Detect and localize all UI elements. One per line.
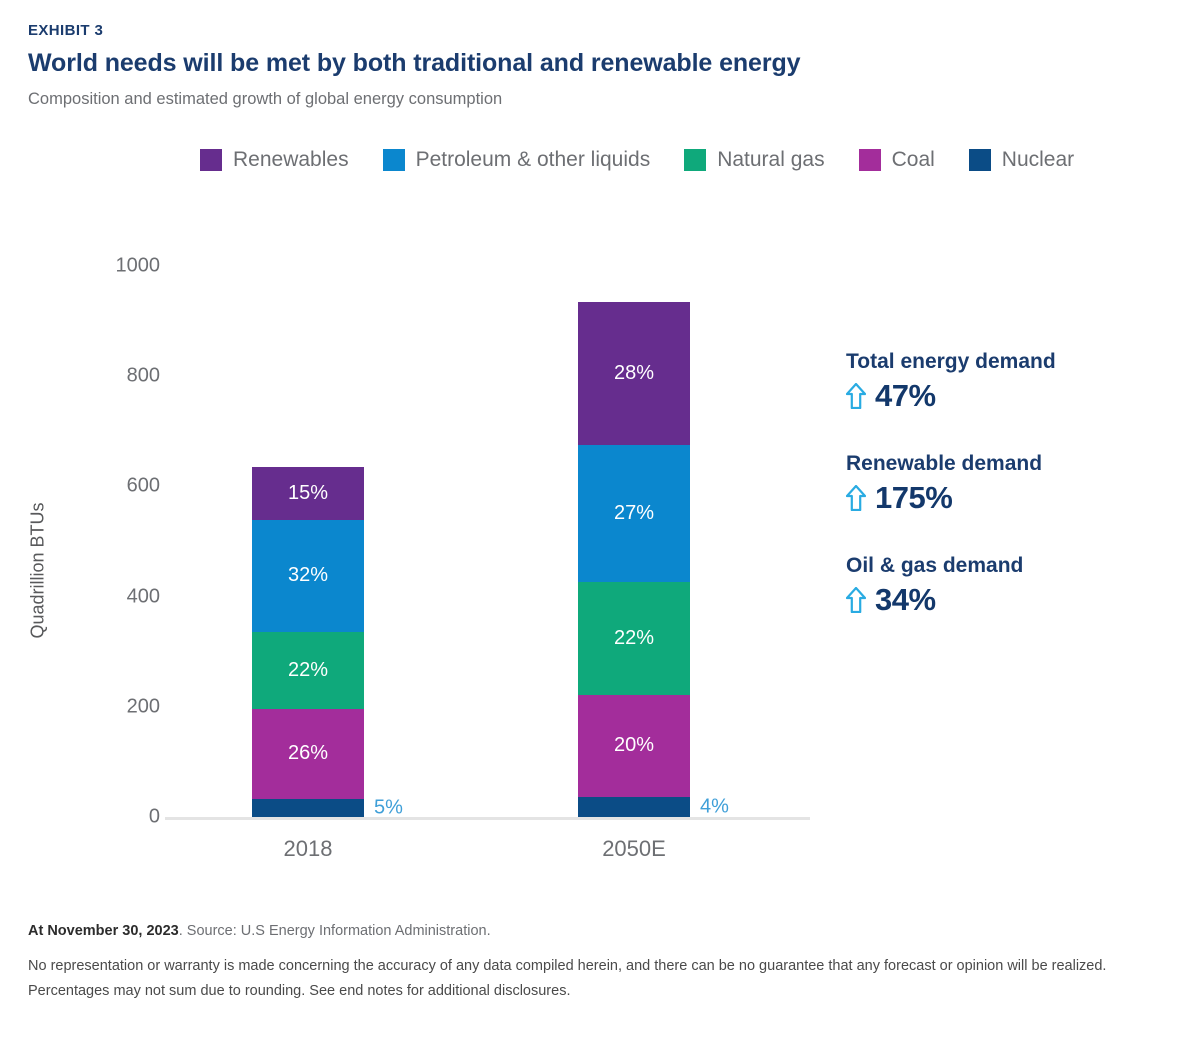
y-axis-tick-label: 1000: [40, 255, 160, 278]
bar-segment-natural-gas[interactable]: 22%: [252, 632, 364, 709]
bar-segment-coal[interactable]: 26%: [252, 709, 364, 800]
callout-value-row: 47%: [846, 378, 1176, 414]
callout-oil-gas-demand: Oil & gas demand34%: [846, 554, 1176, 618]
bar-segment-petroleum-other-liquids[interactable]: 32%: [252, 520, 364, 632]
y-axis-ticks: 10008006004002000: [20, 0, 160, 1042]
callout-group: Total energy demand47%Renewable demand17…: [846, 350, 1176, 618]
callout-title: Renewable demand: [846, 452, 1176, 476]
y-axis-tick-label: 200: [40, 695, 160, 718]
y-axis-tick-label: 800: [40, 365, 160, 388]
bar-segment-nuclear[interactable]: 5%: [252, 799, 364, 816]
bar-segment-label: 26%: [288, 742, 328, 765]
arrow-up-icon: [846, 485, 866, 511]
bar-segment-petroleum-other-liquids[interactable]: 27%: [578, 445, 690, 583]
bar-segment-label: 15%: [288, 482, 328, 505]
arrow-up-icon: [846, 587, 866, 613]
arrow-up-icon: [846, 383, 866, 409]
y-axis-tick-label: 0: [40, 806, 160, 829]
bar-segment-label: 20%: [614, 734, 654, 757]
footnotes: At November 30, 2023. Source: U.S Energy…: [28, 922, 1168, 1003]
bar-segment-renewables[interactable]: 28%: [578, 302, 690, 445]
callout-value: 47%: [875, 378, 936, 414]
bar-segment-nuclear[interactable]: 4%: [578, 797, 690, 817]
stacked-bar-2050e[interactable]: 28%27%22%20%4%: [578, 302, 690, 817]
footnote-disclaimer: No representation or warranty is made co…: [28, 954, 1168, 1004]
callout-value-row: 175%: [846, 480, 1176, 516]
bar-segment-label: 4%: [700, 795, 729, 818]
stacked-bar-2018[interactable]: 15%32%22%26%5%: [252, 467, 364, 817]
bar-segment-label: 22%: [288, 659, 328, 682]
footnote-source-date: At November 30, 2023: [28, 923, 179, 939]
bar-segment-label: 32%: [288, 564, 328, 587]
bar-segment-coal[interactable]: 20%: [578, 695, 690, 797]
footnote-source-text: . Source: U.S Energy Information Adminis…: [179, 923, 491, 939]
callout-value-row: 34%: [846, 582, 1176, 618]
bar-segment-label: 22%: [614, 627, 654, 650]
callout-renewable-demand: Renewable demand175%: [846, 452, 1176, 516]
x-axis-label-2050e: 2050E: [534, 836, 734, 862]
callout-value: 175%: [875, 480, 952, 516]
bar-segment-label: 27%: [614, 502, 654, 525]
y-axis-tick-label: 600: [40, 475, 160, 498]
callout-title: Oil & gas demand: [846, 554, 1176, 578]
bar-segment-label: 5%: [374, 797, 403, 820]
x-axis-label-2018: 2018: [208, 836, 408, 862]
y-axis-tick-label: 400: [40, 585, 160, 608]
bar-segment-renewables[interactable]: 15%: [252, 467, 364, 519]
callout-total-energy-demand: Total energy demand47%: [846, 350, 1176, 414]
callout-value: 34%: [875, 582, 936, 618]
bar-segment-label: 28%: [614, 362, 654, 385]
footnote-source: At November 30, 2023. Source: U.S Energy…: [28, 922, 1168, 942]
callout-title: Total energy demand: [846, 350, 1176, 374]
bar-segment-natural-gas[interactable]: 22%: [578, 582, 690, 694]
